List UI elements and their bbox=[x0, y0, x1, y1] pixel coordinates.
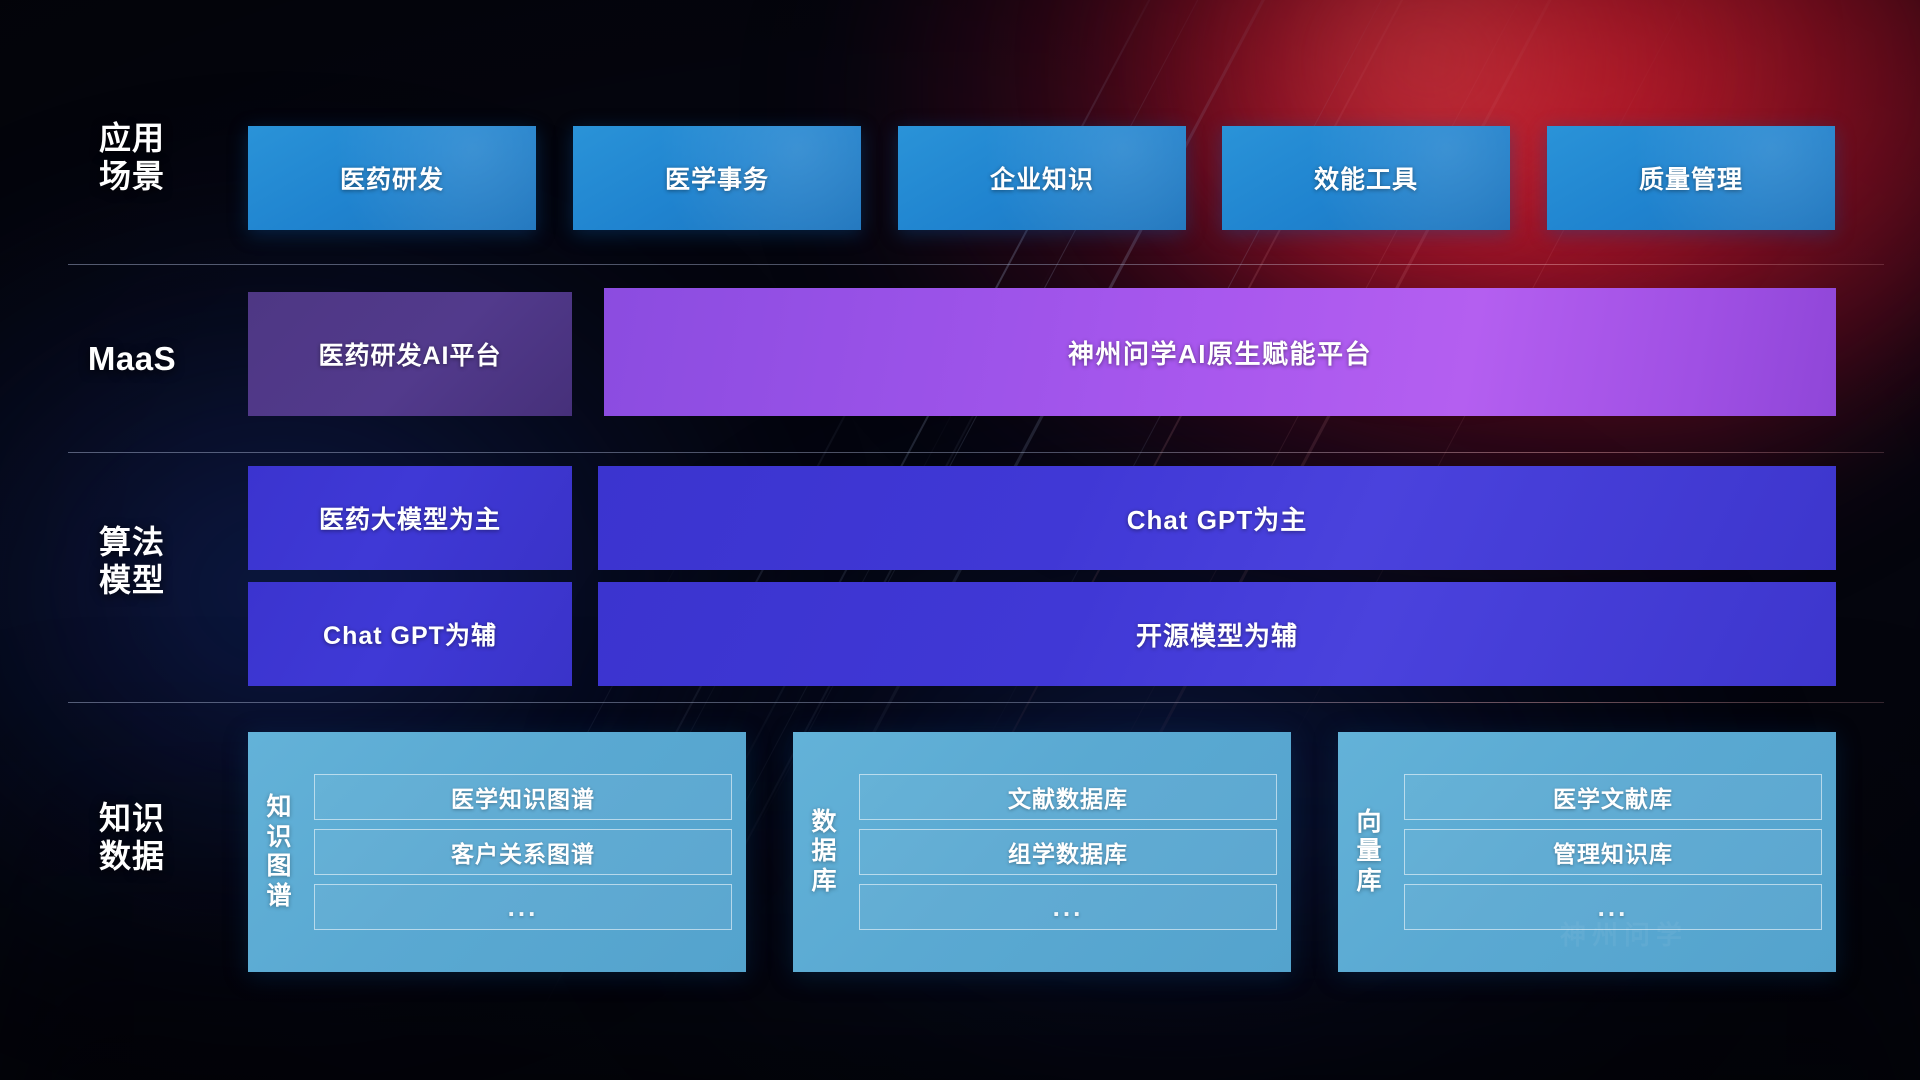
app-box-efficiency-tools[interactable]: 效能工具 bbox=[1222, 126, 1510, 230]
knowledge-panel-vec-char-1: 向 bbox=[1356, 808, 1381, 838]
divider-after-maas bbox=[68, 452, 1884, 453]
knowledge-panel-db-char-3: 库 bbox=[811, 867, 836, 897]
knowledge-panel-label-char-1: 知 bbox=[266, 793, 291, 823]
row-label-maas: MaaS bbox=[68, 340, 196, 379]
knowledge-item-omics-database[interactable]: 组学数据库 bbox=[859, 829, 1277, 875]
row-label-knowledge-line-2: 数据 bbox=[68, 838, 196, 876]
row-label-algorithm-model: 算法 模型 bbox=[68, 524, 196, 600]
app-box-quality-management[interactable]: 质量管理 bbox=[1547, 126, 1835, 230]
knowledge-panel-vector-store[interactable]: 向 量 库 医学文献库 管理知识库 ... bbox=[1338, 732, 1836, 972]
knowledge-panel-database[interactable]: 数 据 库 文献数据库 组学数据库 ... bbox=[793, 732, 1291, 972]
divider-after-algorithm-model bbox=[68, 702, 1884, 703]
knowledge-panel-knowledge-graph[interactable]: 知 识 图 谱 医学知识图谱 客户关系图谱 ... bbox=[248, 732, 746, 972]
app-box-medicine-rnd[interactable]: 医药研发 bbox=[248, 126, 536, 230]
knowledge-panel-db-char-1: 数 bbox=[811, 808, 836, 838]
knowledge-panel-items-knowledge-graph: 医学知识图谱 客户关系图谱 ... bbox=[310, 732, 746, 972]
knowledge-panel-items-vector-store: 医学文献库 管理知识库 ... bbox=[1400, 732, 1836, 972]
row-label-knowledge-data: 知识 数据 bbox=[68, 800, 196, 876]
knowledge-panel-label-vector-store: 向 量 库 bbox=[1338, 732, 1400, 972]
row-label-algo-line-2: 模型 bbox=[68, 562, 196, 600]
knowledge-panel-label-char-3: 图 bbox=[266, 852, 291, 882]
algo-box-medicine-llm-primary[interactable]: 医药大模型为主 bbox=[248, 466, 572, 570]
row-label-line-1: 应用 bbox=[68, 120, 196, 158]
knowledge-item-medical-knowledge-graph[interactable]: 医学知识图谱 bbox=[314, 774, 732, 820]
knowledge-item-more-2[interactable]: ... bbox=[859, 884, 1277, 930]
knowledge-panel-db-char-2: 据 bbox=[811, 837, 836, 867]
row-label-application-scenarios: 应用 场景 bbox=[68, 120, 196, 196]
app-box-medical-affairs[interactable]: 医学事务 bbox=[573, 126, 861, 230]
knowledge-panel-vec-char-2: 量 bbox=[1356, 837, 1381, 867]
knowledge-item-customer-relation-graph[interactable]: 客户关系图谱 bbox=[314, 829, 732, 875]
knowledge-item-literature-database[interactable]: 文献数据库 bbox=[859, 774, 1277, 820]
knowledge-panel-label-database: 数 据 库 bbox=[793, 732, 855, 972]
divider-after-application-scenarios bbox=[68, 264, 1884, 265]
knowledge-panel-items-database: 文献数据库 组学数据库 ... bbox=[855, 732, 1291, 972]
row-label-maas-text: MaaS bbox=[68, 340, 196, 379]
algo-box-opensource-secondary[interactable]: 开源模型为辅 bbox=[598, 582, 1836, 686]
knowledge-item-management-knowledge-store[interactable]: 管理知识库 bbox=[1404, 829, 1822, 875]
knowledge-panel-label-knowledge-graph: 知 识 图 谱 bbox=[248, 732, 310, 972]
algo-box-chatgpt-secondary[interactable]: Chat GPT为辅 bbox=[248, 582, 572, 686]
knowledge-item-more-1[interactable]: ... bbox=[314, 884, 732, 930]
app-box-enterprise-knowledge[interactable]: 企业知识 bbox=[898, 126, 1186, 230]
knowledge-panel-vec-char-3: 库 bbox=[1356, 867, 1381, 897]
knowledge-panel-label-char-2: 识 bbox=[266, 823, 291, 853]
knowledge-item-medical-literature-store[interactable]: 医学文献库 bbox=[1404, 774, 1822, 820]
algo-box-chatgpt-primary[interactable]: Chat GPT为主 bbox=[598, 466, 1836, 570]
maas-box-medicine-ai-platform[interactable]: 医药研发AI平台 bbox=[248, 292, 572, 416]
row-label-algo-line-1: 算法 bbox=[68, 524, 196, 562]
diagram-stage: 应用 场景 医药研发 医学事务 企业知识 效能工具 质量管理 MaaS 医药研发… bbox=[0, 0, 1920, 1080]
row-label-line-2: 场景 bbox=[68, 158, 196, 196]
knowledge-item-more-3[interactable]: ... bbox=[1404, 884, 1822, 930]
knowledge-panel-label-char-4: 谱 bbox=[266, 882, 291, 912]
maas-box-shenzhou-wenxue-platform[interactable]: 神州问学AI原生赋能平台 bbox=[604, 288, 1836, 416]
row-label-knowledge-line-1: 知识 bbox=[68, 800, 196, 838]
